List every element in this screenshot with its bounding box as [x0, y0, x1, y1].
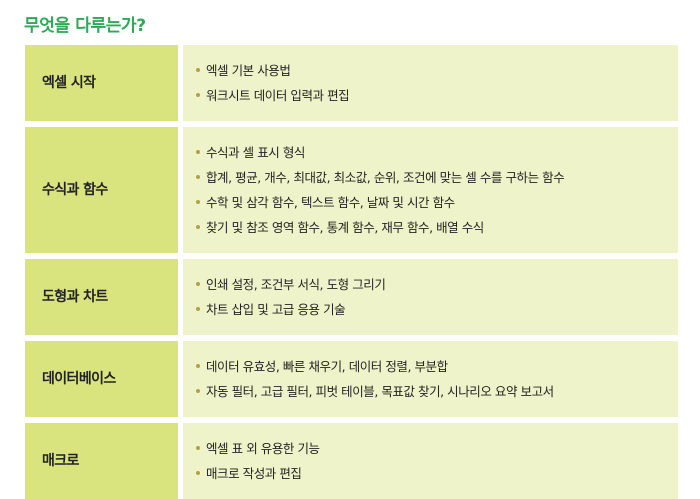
topic-label: 데이터베이스 — [42, 370, 116, 388]
topic-item-text: 수식과 셀 표시 형식 — [206, 140, 305, 165]
table-row: 엑셀 시작 엑셀 기본 사용법 워크시트 데이터 입력과 편집 — [25, 45, 678, 121]
topic-label-cell: 도형과 차트 — [25, 259, 178, 335]
topic-label: 수식과 함수 — [42, 181, 108, 199]
curriculum-topics-table: 엑셀 시작 엑셀 기본 사용법 워크시트 데이터 입력과 편집 수식과 함수 — [25, 45, 678, 499]
topic-item-text: 차트 삽입 및 고급 응용 기술 — [206, 297, 345, 322]
page-title: 무엇을 다루는가? — [24, 15, 146, 37]
topic-items-cell: 엑셀 표 외 유용한 기능 매크로 작성과 편집 — [183, 423, 678, 499]
topic-label: 도형과 차트 — [42, 288, 108, 306]
topic-items-cell: 수식과 셀 표시 형식 합계, 평균, 개수, 최대값, 최소값, 순위, 조건… — [183, 127, 678, 253]
list-item: 매크로 작성과 편집 — [196, 461, 668, 486]
table-row: 수식과 함수 수식과 셀 표시 형식 합계, 평균, 개수, 최대값, 최소값,… — [25, 127, 678, 253]
list-item: 차트 삽입 및 고급 응용 기술 — [196, 297, 668, 322]
topic-label: 엑셀 시작 — [42, 74, 95, 92]
table-row: 도형과 차트 인쇄 설정, 조건부 서식, 도형 그리기 차트 삽입 및 고급 … — [25, 259, 678, 335]
bullet-dot-icon — [196, 471, 200, 475]
topic-label: 매크로 — [42, 452, 79, 470]
bullet-dot-icon — [196, 446, 200, 450]
list-item: 데이터 유효성, 빠른 채우기, 데이터 정렬, 부분합 — [196, 354, 668, 379]
list-item: 엑셀 표 외 유용한 기능 — [196, 436, 668, 461]
bullet-dot-icon — [196, 307, 200, 311]
topic-item-text: 엑셀 표 외 유용한 기능 — [206, 436, 320, 461]
bullet-dot-icon — [196, 93, 200, 97]
topic-label-cell: 매크로 — [25, 423, 178, 499]
page-root: 무엇을 다루는가? 엑셀 시작 엑셀 기본 사용법 워크시트 데이터 입력과 편… — [0, 0, 700, 493]
bullet-dot-icon — [196, 68, 200, 72]
list-item: 합계, 평균, 개수, 최대값, 최소값, 순위, 조건에 맞는 셀 수를 구하… — [196, 165, 668, 190]
bullet-dot-icon — [196, 150, 200, 154]
bullet-dot-icon — [196, 225, 200, 229]
bullet-dot-icon — [196, 200, 200, 204]
topic-items-cell: 엑셀 기본 사용법 워크시트 데이터 입력과 편집 — [183, 45, 678, 121]
topic-item-text: 자동 필터, 고급 필터, 피벗 테이블, 목표값 찾기, 시나리오 요약 보고… — [206, 379, 554, 404]
topic-item-text: 엑셀 기본 사용법 — [206, 58, 290, 83]
topic-label-cell: 수식과 함수 — [25, 127, 178, 253]
topic-item-text: 수학 및 삼각 함수, 텍스트 함수, 날짜 및 시간 함수 — [206, 190, 455, 215]
bullet-dot-icon — [196, 175, 200, 179]
list-item: 자동 필터, 고급 필터, 피벗 테이블, 목표값 찾기, 시나리오 요약 보고… — [196, 379, 668, 404]
list-item: 엑셀 기본 사용법 — [196, 58, 668, 83]
topic-label-cell: 엑셀 시작 — [25, 45, 178, 121]
topic-item-text: 데이터 유효성, 빠른 채우기, 데이터 정렬, 부분합 — [206, 354, 448, 379]
table-row: 데이터베이스 데이터 유효성, 빠른 채우기, 데이터 정렬, 부분합 자동 필… — [25, 341, 678, 417]
topic-item-text: 인쇄 설정, 조건부 서식, 도형 그리기 — [206, 272, 385, 297]
topic-item-text: 찾기 및 참조 영역 함수, 통계 함수, 재무 함수, 배열 수식 — [206, 215, 484, 240]
list-item: 수식과 셀 표시 형식 — [196, 140, 668, 165]
bullet-dot-icon — [196, 389, 200, 393]
list-item: 수학 및 삼각 함수, 텍스트 함수, 날짜 및 시간 함수 — [196, 190, 668, 215]
topic-items-cell: 데이터 유효성, 빠른 채우기, 데이터 정렬, 부분합 자동 필터, 고급 필… — [183, 341, 678, 417]
bullet-dot-icon — [196, 282, 200, 286]
list-item: 찾기 및 참조 영역 함수, 통계 함수, 재무 함수, 배열 수식 — [196, 215, 668, 240]
list-item: 워크시트 데이터 입력과 편집 — [196, 83, 668, 108]
table-row: 매크로 엑셀 표 외 유용한 기능 매크로 작성과 편집 — [25, 423, 678, 499]
bullet-dot-icon — [196, 364, 200, 368]
topic-item-text: 합계, 평균, 개수, 최대값, 최소값, 순위, 조건에 맞는 셀 수를 구하… — [206, 165, 564, 190]
topic-item-text: 워크시트 데이터 입력과 편집 — [206, 83, 349, 108]
topic-items-cell: 인쇄 설정, 조건부 서식, 도형 그리기 차트 삽입 및 고급 응용 기술 — [183, 259, 678, 335]
topic-item-text: 매크로 작성과 편집 — [206, 461, 301, 486]
list-item: 인쇄 설정, 조건부 서식, 도형 그리기 — [196, 272, 668, 297]
topic-label-cell: 데이터베이스 — [25, 341, 178, 417]
